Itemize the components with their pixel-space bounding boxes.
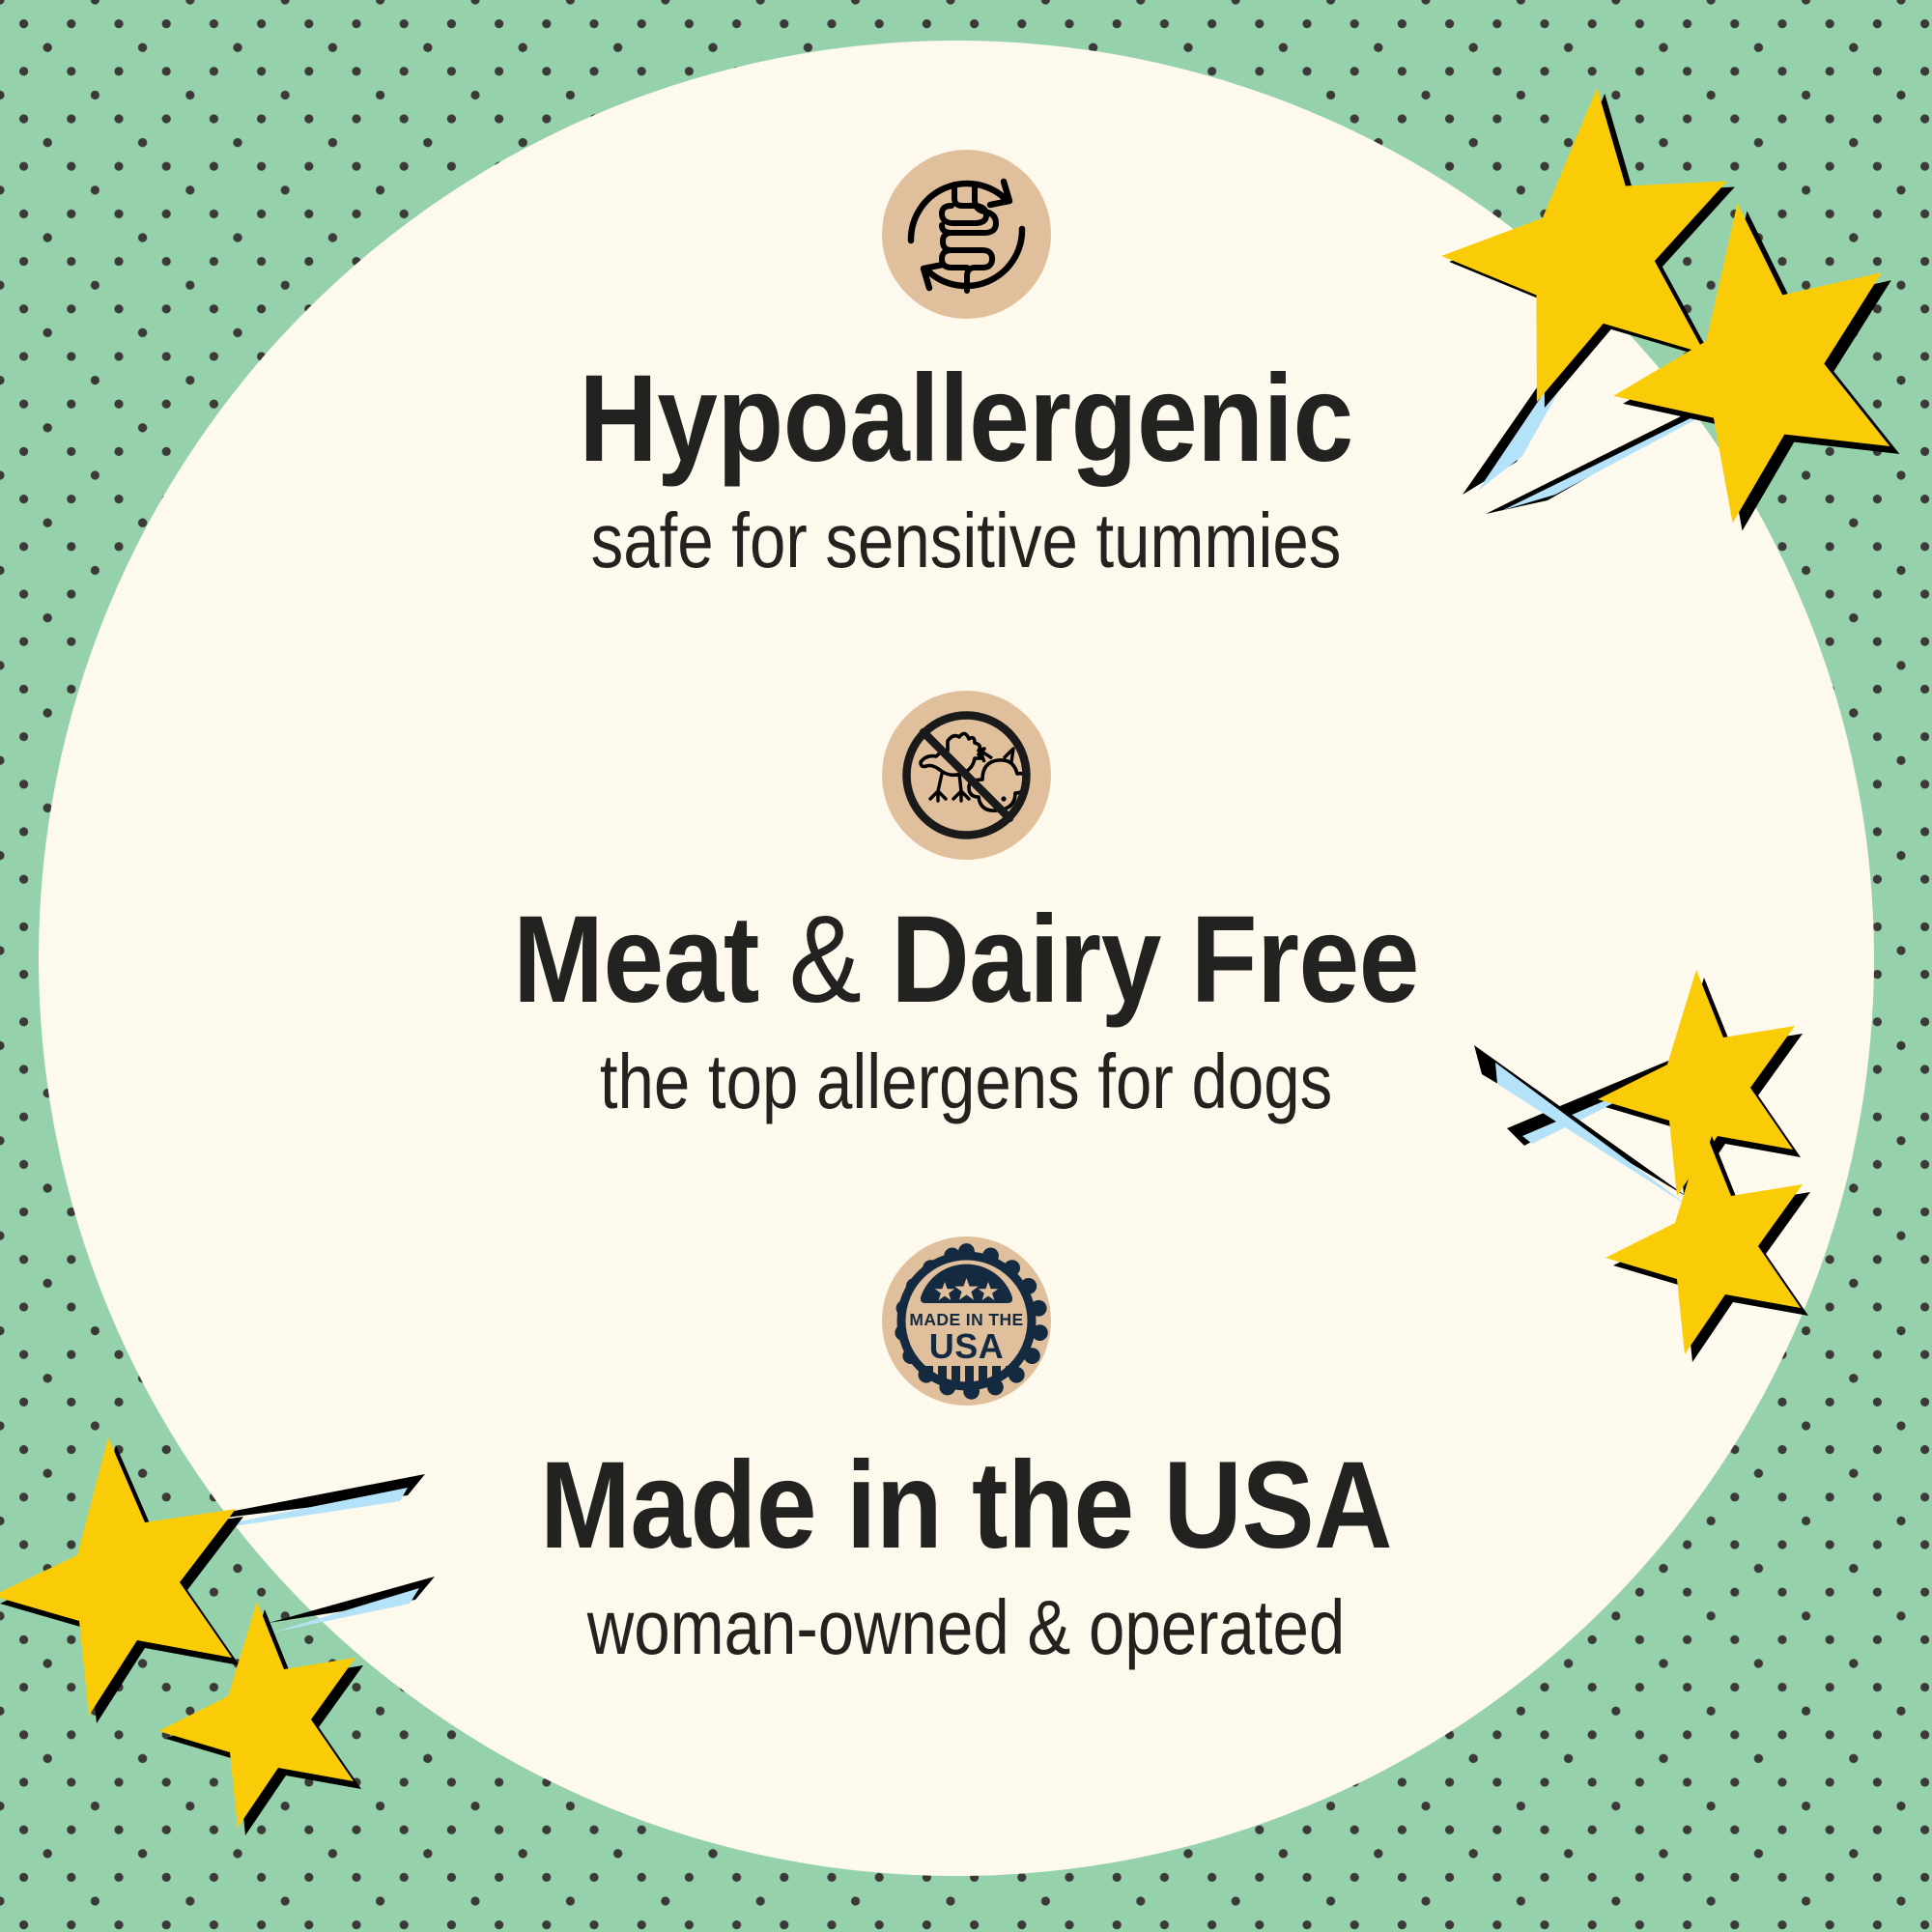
- feature-block-meat-dairy-free: Meat & Dairy Free the top allergens for …: [0, 691, 1932, 1121]
- promo-canvas: Hypoallergenic safe for sensitive tummie…: [0, 0, 1932, 1932]
- feature-headline-made-in-usa: Made in the USA: [116, 1444, 1816, 1568]
- feature-block-hypoallergenic: Hypoallergenic safe for sensitive tummie…: [0, 150, 1932, 580]
- badge-line-2: USA: [928, 1326, 1004, 1366]
- headline-word-dairy-free: Dairy Free: [891, 891, 1419, 1029]
- feature-subline-made-in-usa: woman-owned & operated: [155, 1589, 1777, 1666]
- no-meat-dairy-icon: [882, 691, 1051, 860]
- made-in-usa-badge-icon: MADE IN THE USA: [882, 1236, 1051, 1406]
- feature-headline-meat-dairy-free: Meat & Dairy Free: [116, 898, 1816, 1022]
- gut-health-icon: [882, 150, 1051, 319]
- feature-subline-hypoallergenic: safe for sensitive tummies: [155, 502, 1777, 580]
- feature-headline-hypoallergenic: Hypoallergenic: [116, 357, 1816, 481]
- headline-ampersand: &: [789, 891, 862, 1029]
- feature-subline-meat-dairy-free: the top allergens for dogs: [155, 1043, 1777, 1121]
- headline-word-meat: Meat: [513, 891, 759, 1029]
- feature-block-made-in-usa: MADE IN THE USA Made in the USA woman-: [0, 1236, 1932, 1666]
